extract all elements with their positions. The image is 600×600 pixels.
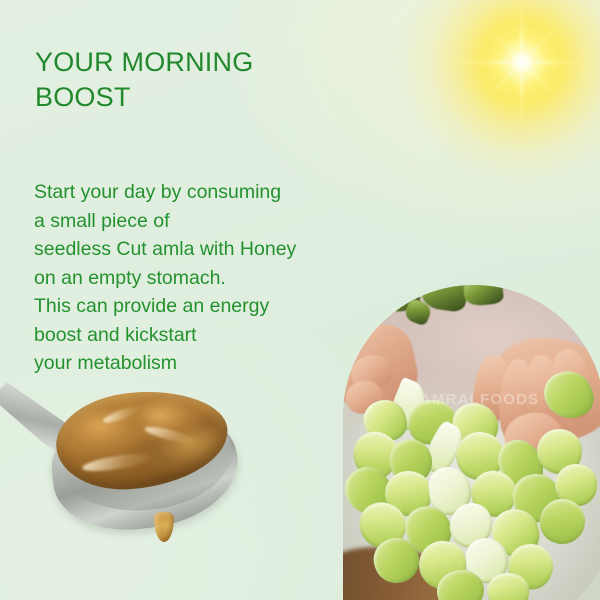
honey-spoon-graphic — [0, 344, 254, 554]
page-title: YOUR MORNING BOOST — [35, 45, 345, 115]
honey-drip — [154, 512, 174, 542]
body-line: on an empty stomach. — [34, 264, 354, 293]
body-line: This can provide an energy — [34, 292, 354, 321]
body-line: a small piece of — [34, 207, 354, 236]
body-line: seedless Cut amla with Honey — [34, 235, 354, 264]
amla-washing-photo: SAMRALFOODS — [343, 285, 600, 600]
body-line: Start your day by consuming — [34, 178, 354, 207]
photo-content: SAMRALFOODS — [343, 285, 600, 600]
poster-canvas: YOUR MORNING BOOST Start your day by con… — [0, 0, 600, 600]
